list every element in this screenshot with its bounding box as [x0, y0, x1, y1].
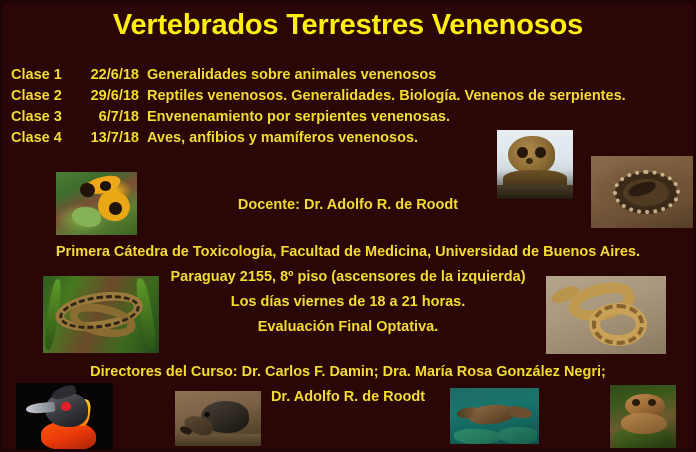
class-date: 29/6/18 [73, 88, 147, 104]
class-date: 22/6/18 [73, 67, 147, 83]
class-topic: Aves, anfibios y mamíferos venenosos. [147, 130, 418, 146]
class-topic: Generalidades sobre animales venenosos [147, 67, 436, 83]
class-topic: Envenenamiento por serpientes venenosas. [147, 109, 450, 125]
class-row: Clase 1 22/6/18 Generalidades sobre anim… [11, 67, 626, 88]
page-title: Vertebrados Terrestres Venenosos [3, 9, 693, 42]
class-name: Clase 3 [11, 109, 73, 125]
directors-line-one: Directores del Curso: Dr. Carlos F. Dami… [3, 364, 693, 380]
photo-snake-in-grass [43, 276, 159, 353]
class-date: 6/7/18 [73, 109, 147, 125]
class-date: 13/7/18 [73, 130, 147, 146]
photo-gila-monster [591, 156, 696, 228]
address-line: Paraguay 2155, 8º piso (ascensores de la… [3, 269, 693, 285]
photo-snake-on-sand [546, 276, 666, 354]
department-line: Primera Cátedra de Toxicología, Facultad… [3, 244, 693, 260]
class-row: Clase 3 6/7/18 Envenenamiento por serpie… [11, 109, 626, 130]
class-row: Clase 2 29/6/18 Reptiles venenosos. Gene… [11, 88, 626, 109]
directors-line-two: Dr. Adolfo R. de Roodt [3, 389, 693, 405]
instructor-line: Docente: Dr. Adolfo R. de Roodt [3, 197, 693, 213]
poster: Vertebrados Terrestres Venenosos Clase 1… [0, 0, 696, 452]
class-name: Clase 2 [11, 88, 73, 104]
class-schedule-list: Clase 1 22/6/18 Generalidades sobre anim… [11, 67, 626, 151]
class-row: Clase 4 13/7/18 Aves, anfibios y mamífer… [11, 130, 626, 151]
class-name: Clase 1 [11, 67, 73, 83]
class-topic: Reptiles venenosos. Generalidades. Biolo… [147, 88, 626, 104]
schedule-line: Los días viernes de 18 a 21 horas. [3, 294, 693, 310]
class-name: Clase 4 [11, 130, 73, 146]
evaluation-line: Evaluación Final Optativa. [3, 319, 693, 335]
